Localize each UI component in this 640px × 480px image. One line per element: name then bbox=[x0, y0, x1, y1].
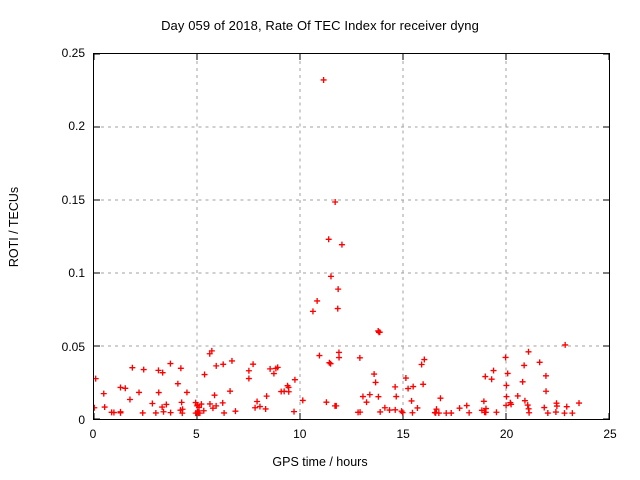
chart-title: Day 059 of 2018, Rate Of TEC Index for r… bbox=[0, 18, 640, 33]
plot-area bbox=[93, 53, 610, 420]
x-tick-label: 5 bbox=[166, 427, 226, 441]
x-tick-label: 15 bbox=[373, 427, 433, 441]
y-tick-label: 0.25 bbox=[29, 46, 85, 60]
y-tick-label: 0.05 bbox=[29, 340, 85, 354]
x-tick-label: 20 bbox=[477, 427, 537, 441]
y-tick-label: 0 bbox=[29, 413, 85, 427]
y-axis-label: ROTI / TECUs bbox=[7, 147, 21, 307]
x-tick-label: 0 bbox=[63, 427, 123, 441]
x-tick-label: 10 bbox=[270, 427, 330, 441]
x-tick-label: 25 bbox=[580, 427, 640, 441]
plot-canvas bbox=[94, 54, 609, 419]
roti-scatter-figure: Day 059 of 2018, Rate Of TEC Index for r… bbox=[0, 0, 640, 480]
y-tick-label: 0.15 bbox=[29, 193, 85, 207]
x-axis-label: GPS time / hours bbox=[0, 455, 640, 469]
y-tick-label: 0.1 bbox=[29, 266, 85, 280]
data-point-markers bbox=[94, 77, 582, 416]
y-tick-label: 0.2 bbox=[29, 119, 85, 133]
